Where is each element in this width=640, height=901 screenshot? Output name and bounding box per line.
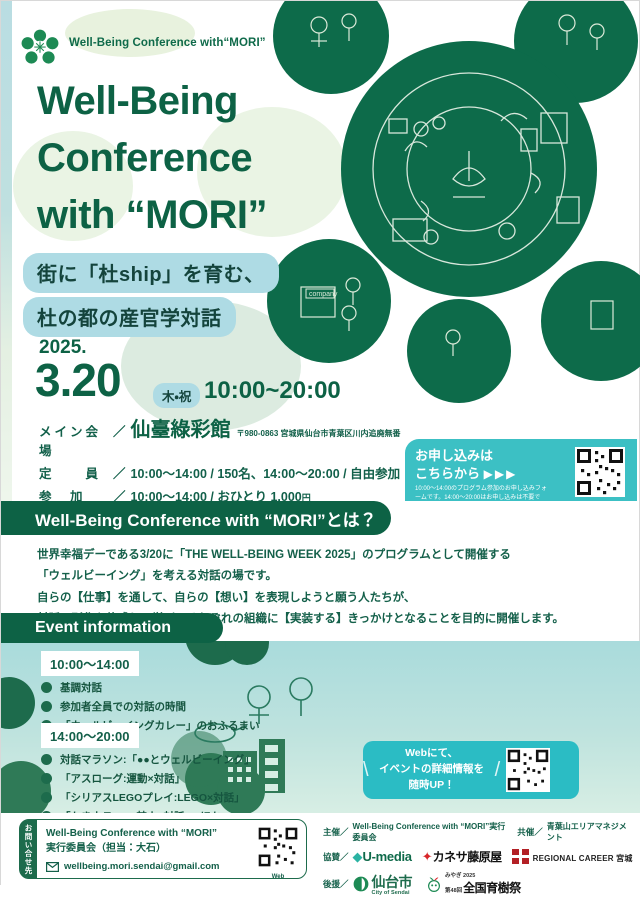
bullet-icon [41,682,52,693]
contact-org-line-2: 実行委員会（担当：大石） [46,842,251,857]
event-day-badge: 木・祝 [153,383,200,408]
subtitle: 街に「杜ship」を育む、 杜の都の産官学対話 [23,253,279,341]
sendai-subtitle: City of Sendai [372,890,413,896]
apply-title-text: こちらから [415,466,480,481]
list-item: 対話マラソン:「●●とウェルビーイング」 [41,752,255,767]
event-info-band: Event information [1,613,223,643]
poster-root: company Well-Being Conference with“MORI”… [0,0,640,885]
about-line-3: 自らの【仕事】を通して、自らの【想い】を表現しようと願う人たちが、 [37,588,597,609]
slash-decoration: \ [363,759,369,782]
contact-email-row[interactable]: wellbeing.mori.sendai@gmail.com [46,861,251,872]
supporter-logo-sendai: 仙台市 City of Sendai [353,872,413,896]
list-item-label: 基調対話 [60,680,102,695]
sponsor-logo-kanesa: ✦カネサ藤原屋 [422,848,502,866]
slot-time: 10:00〜14:00 [41,651,139,676]
qr-code-icon[interactable] [506,748,550,792]
qr-caption: Web [257,874,299,880]
contact-org-line-1: Well-Being Conference with “MORI” [46,827,251,842]
event-slot-morning: 10:00〜14:00 基調対話 参加者全員での対話の時間 「ウェルビーイングカ… [41,651,260,733]
contact-card: お問い合せ先 Well-Being Conference with “MORI”… [19,819,307,879]
web-info-text: Webにて、 イベントの詳細情報を 随時UP！ [369,746,495,793]
apply-note: 10:00〜14:00のプログラム参加のお申し込みフォームです。14:00〜20… [415,485,547,501]
row-separator: ／ [113,421,126,440]
detail-row-fee: 参 加 費 ／ 10:00〜14:00 / おひとり 1,000円 [39,486,409,501]
event-details: メイン会場 ／ 仙臺綠彩館 〒980-0863 宮城県仙台市青葉区川内追廃無番 … [39,413,409,501]
title-line-2: Conference [37,130,367,187]
cross-mark-icon [512,849,529,864]
fee-label: 参 加 費 [39,486,113,501]
list-item: 「アスローグ:運動×対話」 [41,771,255,786]
cohost-label: 共催／ [517,826,543,838]
sponsor-label: 協賛／ [323,851,349,863]
venue-address: 〒980-0863 宮城県仙台市青葉区川内追廃無番 [237,428,401,439]
ikujusai-prefix: 第48回 [445,886,462,894]
supporter-name: 仙台市 [372,874,413,890]
footer-section: お問い合せ先 Well-Being Conference with “MORI”… [1,813,640,886]
bullet-icon [41,773,52,784]
list-item: 参加者全員での対話の時間 [41,699,260,714]
capacity-label: 定 員 [39,463,113,482]
host-row: 主催／ Well-Being Conference with “MORI”実行委… [323,821,633,843]
fee-unit: 円 [302,491,311,501]
venue-label: メイン会場 [39,421,113,459]
list-item-label: 「シリアスLEGOプレイ:LEGO×対話」 [60,790,245,805]
event-slot-afternoon: 14:00〜20:00 対話マラソン:「●●とウェルビーイング」 「アスローグ:… [41,723,255,813]
bullet-icon [41,754,52,765]
subtitle-line-2: 杜の都の産官学対話 [23,297,236,337]
list-item: 「シリアスLEGOプレイ:LEGO×対話」 [41,790,255,805]
about-band-title: Well-Being Conference with “MORI”とは？ [35,506,377,531]
header-section: company Well-Being Conference with“MORI”… [1,1,640,501]
arrow-icons: ▶▶▶ [484,467,518,481]
contact-qr-block[interactable]: Web [257,820,306,878]
organizers-block: 主催／ Well-Being Conference with “MORI”実行委… [323,821,633,901]
title-line-3: with “MORI” [37,187,367,244]
svg-text:company: company [309,291,338,298]
about-line-2: 「ウェルビーイング」を考える対話の場です。 [37,566,597,587]
brand-logo-text: Well-Being Conference with“MORI” [69,37,266,49]
supporter-name: 全国育樹祭 [463,879,521,896]
web-info-panel[interactable]: \ Webにて、 イベントの詳細情報を 随時UP！ / [363,741,579,799]
web-line-1: Webにて、 [369,746,495,762]
row-separator: ／ [113,463,126,482]
web-line-3: 随時UP！ [369,778,495,794]
detail-row-venue: メイン会場 ／ 仙臺綠彩館 〒980-0863 宮城県仙台市青葉区川内追廃無番 [39,413,409,459]
slash-decoration: / [495,759,501,782]
subtitle-line-1: 街に「杜ship」を育む、 [23,253,279,293]
supporter-logo-ikujusai: みやぎ 2025 第48回 全国育樹祭 [426,871,521,896]
event-info-title: Event information [35,619,171,637]
list-item: 基調対話 [41,680,260,695]
application-panel[interactable]: お申し込みは こちらから ▶▶▶ 10:00〜14:00のプログラム参加のお申し… [405,439,637,501]
contact-body: Well-Being Conference with “MORI” 実行委員会（… [37,820,257,878]
sponsor-logo-umedia: ◆U-media [353,848,412,866]
detail-row-capacity: 定 員 ／ 10:00〜14:00 / 150名、14:00〜20:00 / 自… [39,463,409,482]
bullet-icon [41,701,52,712]
contact-tab-label: お問い合せ先 [20,820,37,878]
host-value: Well-Being Conference with “MORI”実行委員会 [353,821,512,843]
ikujusai-year: みやぎ 2025 [445,871,521,879]
list-item-label: 「アスローグ:運動×対話」 [60,771,185,786]
page-title: Well-Being Conference with “MORI” [37,73,367,243]
title-line-1: Well-Being [37,73,367,130]
sendai-city-mark-icon [353,876,369,892]
support-label: 後援／ [323,878,349,890]
sponsor-logo-regional-career: REGIONAL CAREER 宮城 [512,848,633,866]
list-item-label: 参加者全員での対話の時間 [60,699,186,714]
sponsor-name: カネサ藤原屋 [433,850,502,864]
row-separator: ／ [113,486,126,501]
flower-logo-icon [21,29,59,67]
sponsor-name: REGIONAL CAREER 宮城 [533,854,633,863]
contact-email: wellbeing.mori.sendai@gmail.com [64,861,220,872]
sponsor-row: 協賛／ ◆U-media ✦カネサ藤原屋 REGIONAL CAREER 宮城 [323,848,633,866]
host-label: 主催／ [323,826,349,838]
fee-value: 10:00〜14:00 / おひとり 1,000 [131,486,302,501]
about-band: Well-Being Conference with “MORI”とは？ [1,501,391,535]
about-line-1: 世界幸福デーである3/20に「THE WELL-BEING WEEK 2025」… [37,545,597,566]
envelope-icon [46,862,59,872]
event-time: 10:00~20:00 [204,377,341,405]
qr-code-icon[interactable] [257,826,299,868]
web-line-2: イベントの詳細情報を [369,762,495,778]
capacity-value: 10:00〜14:00 / 150名、14:00〜20:00 / 自由参加 [131,463,401,482]
bullet-icon [41,792,52,803]
sponsor-name: U-media [363,849,412,864]
slot-time: 14:00〜20:00 [41,723,139,748]
ikujusai-mascot-icon [426,875,442,892]
supporter-row: 後援／ 仙台市 City of Sendai [323,871,633,896]
cohost-value: 青葉山エリアマネジメント [547,821,633,843]
venue-name: 仙臺綠彩館 [131,413,231,442]
list-item-label: 対話マラソン:「●●とウェルビーイング」 [60,752,255,767]
event-date: 3.20 [35,353,121,407]
qr-code-icon[interactable] [575,447,625,497]
